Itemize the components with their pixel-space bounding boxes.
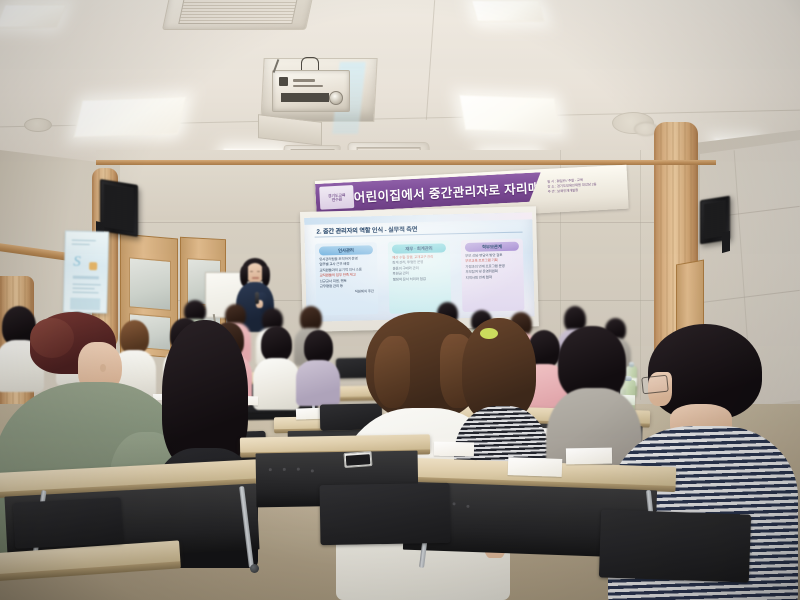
- banner-side-notes: 일 시 : 평일반 / 주말 - 교육 장 소 : 경기도보육인재원 대강당 2…: [547, 171, 624, 201]
- ceiling-panel-light: [0, 4, 67, 28]
- microphone: [255, 292, 259, 304]
- poster-script-text: S: [73, 254, 81, 271]
- slide-bullet: 직원회의 주관: [320, 289, 374, 294]
- projector-detail: [293, 79, 315, 82]
- slide-box-hr: 인사관리 인사관리팀을 조직하여 운영 업무별 교사 근무 배정 교직원들과의 …: [315, 242, 379, 315]
- presentation-slide: 2. 중간 관리자의 역할 인식 - 실무적 측면 인사관리 인사관리팀을 조직…: [304, 212, 534, 322]
- speaker-bracket-right: [722, 231, 730, 253]
- chair-back: [599, 509, 751, 582]
- slide-box-header: 재무 · 회계관리: [392, 243, 446, 253]
- projector-cable: [301, 57, 319, 70]
- ac-cassette-unit: [162, 0, 314, 30]
- slide-box-body: 예산 수립·집행, 교재교구 관리 회계 관리, 투명한 운영 물품의 구매와 …: [388, 254, 451, 281]
- attendee-hair-strand: [374, 336, 410, 408]
- photograph-scene: S 경기도교육 연수원 어린이집에서 중간관리자로 자리매김하기 일 시 : 평…: [0, 0, 800, 600]
- banner-title: 어린이집에서 중간관리자로 자리매김하기: [353, 177, 542, 206]
- wall-poster: S: [63, 230, 109, 313]
- projector-detail: [281, 93, 329, 102]
- slide-box-parents: 학부모관계 부모 상담·면담의 방안 검토 부모교육 프로그램 기획 가정과의 …: [461, 239, 525, 312]
- chair-back: [13, 497, 123, 549]
- eyeglasses: [641, 375, 669, 395]
- slide-bullet: 지역사회 연계 협력: [466, 274, 520, 279]
- chair-back: [319, 483, 450, 545]
- organization-logo: 경기도교육 연수원: [319, 185, 354, 210]
- door-glass-panel: [129, 257, 171, 311]
- slide-box-header: 인사관리: [319, 245, 373, 255]
- projector-lens: [329, 91, 343, 105]
- presenter-mouth: [252, 277, 259, 279]
- ceiling-vent: [24, 118, 52, 132]
- ceiling-panel-light: [458, 94, 561, 133]
- hair-bun: [30, 318, 74, 358]
- ceiling-panel-light: [73, 96, 187, 138]
- hair-scrunchie: [480, 328, 498, 339]
- desk-caster: [250, 564, 259, 573]
- ceiling-panel-light: [471, 0, 545, 22]
- banner-note: 주 관 : 보육인재개발원: [548, 187, 624, 195]
- handout-paper: [508, 457, 563, 477]
- handout-paper: [566, 448, 612, 465]
- slide-box-body: 인사관리팀을 조직하여 운영 업무별 교사 근무 배정 교직원들과의 유기적 의…: [315, 256, 378, 294]
- slide-box-body: 부모 상담·면담의 방안 검토 부모교육 프로그램 기획 가정과의 연계 프로그…: [461, 253, 524, 280]
- projector: [272, 70, 350, 112]
- slide-box-header: 학부모관계: [465, 242, 519, 252]
- slide-bullet: 행정적 문서 처리와 점검: [393, 276, 447, 281]
- handout-paper: [434, 442, 474, 457]
- smartphone[interactable]: [344, 451, 373, 468]
- attendee-ear: [100, 364, 106, 372]
- banner-logo-line2: 연수원: [332, 197, 343, 202]
- ceiling-seam: [426, 0, 435, 120]
- projector-detail: [293, 85, 323, 87]
- projector-detail: [279, 77, 288, 86]
- wall-speaker-left: [100, 179, 138, 237]
